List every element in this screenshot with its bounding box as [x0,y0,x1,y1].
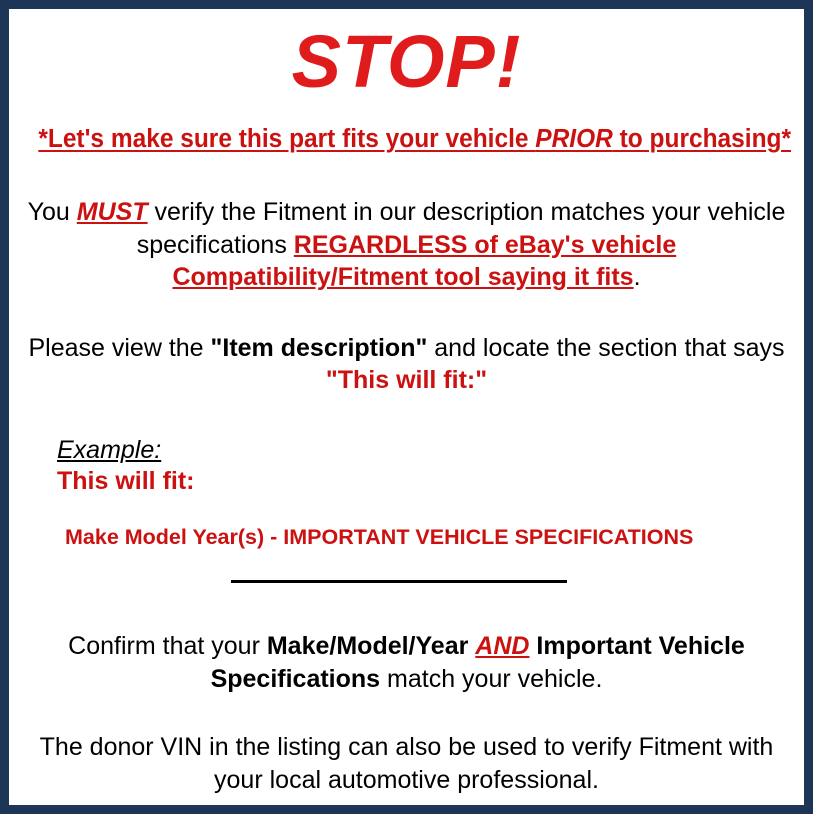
confirm-make-model-year: Make/Model/Year [267,632,468,660]
fitment-notice-banner: STOP! *Let's make sure this part fits yo… [0,0,813,814]
subheadline: *Let's make sure this part fits your veh… [38,125,774,154]
confirm-and-emphasis: AND [475,632,529,660]
paragraph-confirm: Confirm that your Make/Model/Year AND Im… [23,630,790,695]
view-item-description-label: "Item description" [211,334,428,362]
must-seg1: You [28,198,77,226]
section-divider [231,580,567,583]
subheadline-prefix: *Let's make sure this part fits your veh… [38,125,535,153]
view-seg2: and locate the section that says [427,334,784,362]
example-block: Example: This will fit: Make Model Year(… [23,437,790,551]
view-seg1: Please view the [28,334,210,362]
banner-content: STOP! *Let's make sure this part fits yo… [9,25,804,814]
paragraph-donor-vin: The donor VIN in the listing can also be… [23,731,790,796]
paragraph-must-verify: You MUST verify the Fitment in our descr… [23,196,790,294]
subheadline-emphasis: PRIOR [535,125,613,153]
confirm-seg1: Confirm that your [68,632,267,660]
example-fit-label: This will fit: [57,466,790,497]
must-seg3: . [634,263,641,291]
paragraph-item-description: Please view the "Item description" and l… [23,332,790,397]
example-fit-specification: Make Model Year(s) - IMPORTANT VEHICLE S… [57,525,790,551]
subheadline-suffix: to purchasing* [613,125,791,153]
divider-wrapper [23,580,790,594]
example-label: Example: [57,437,790,465]
view-this-will-fit-label: "This will fit:" [326,366,487,394]
must-emphasis: MUST [77,198,148,226]
confirm-seg2: match your vehicle. [380,665,602,693]
page-title: STOP! [23,25,790,99]
